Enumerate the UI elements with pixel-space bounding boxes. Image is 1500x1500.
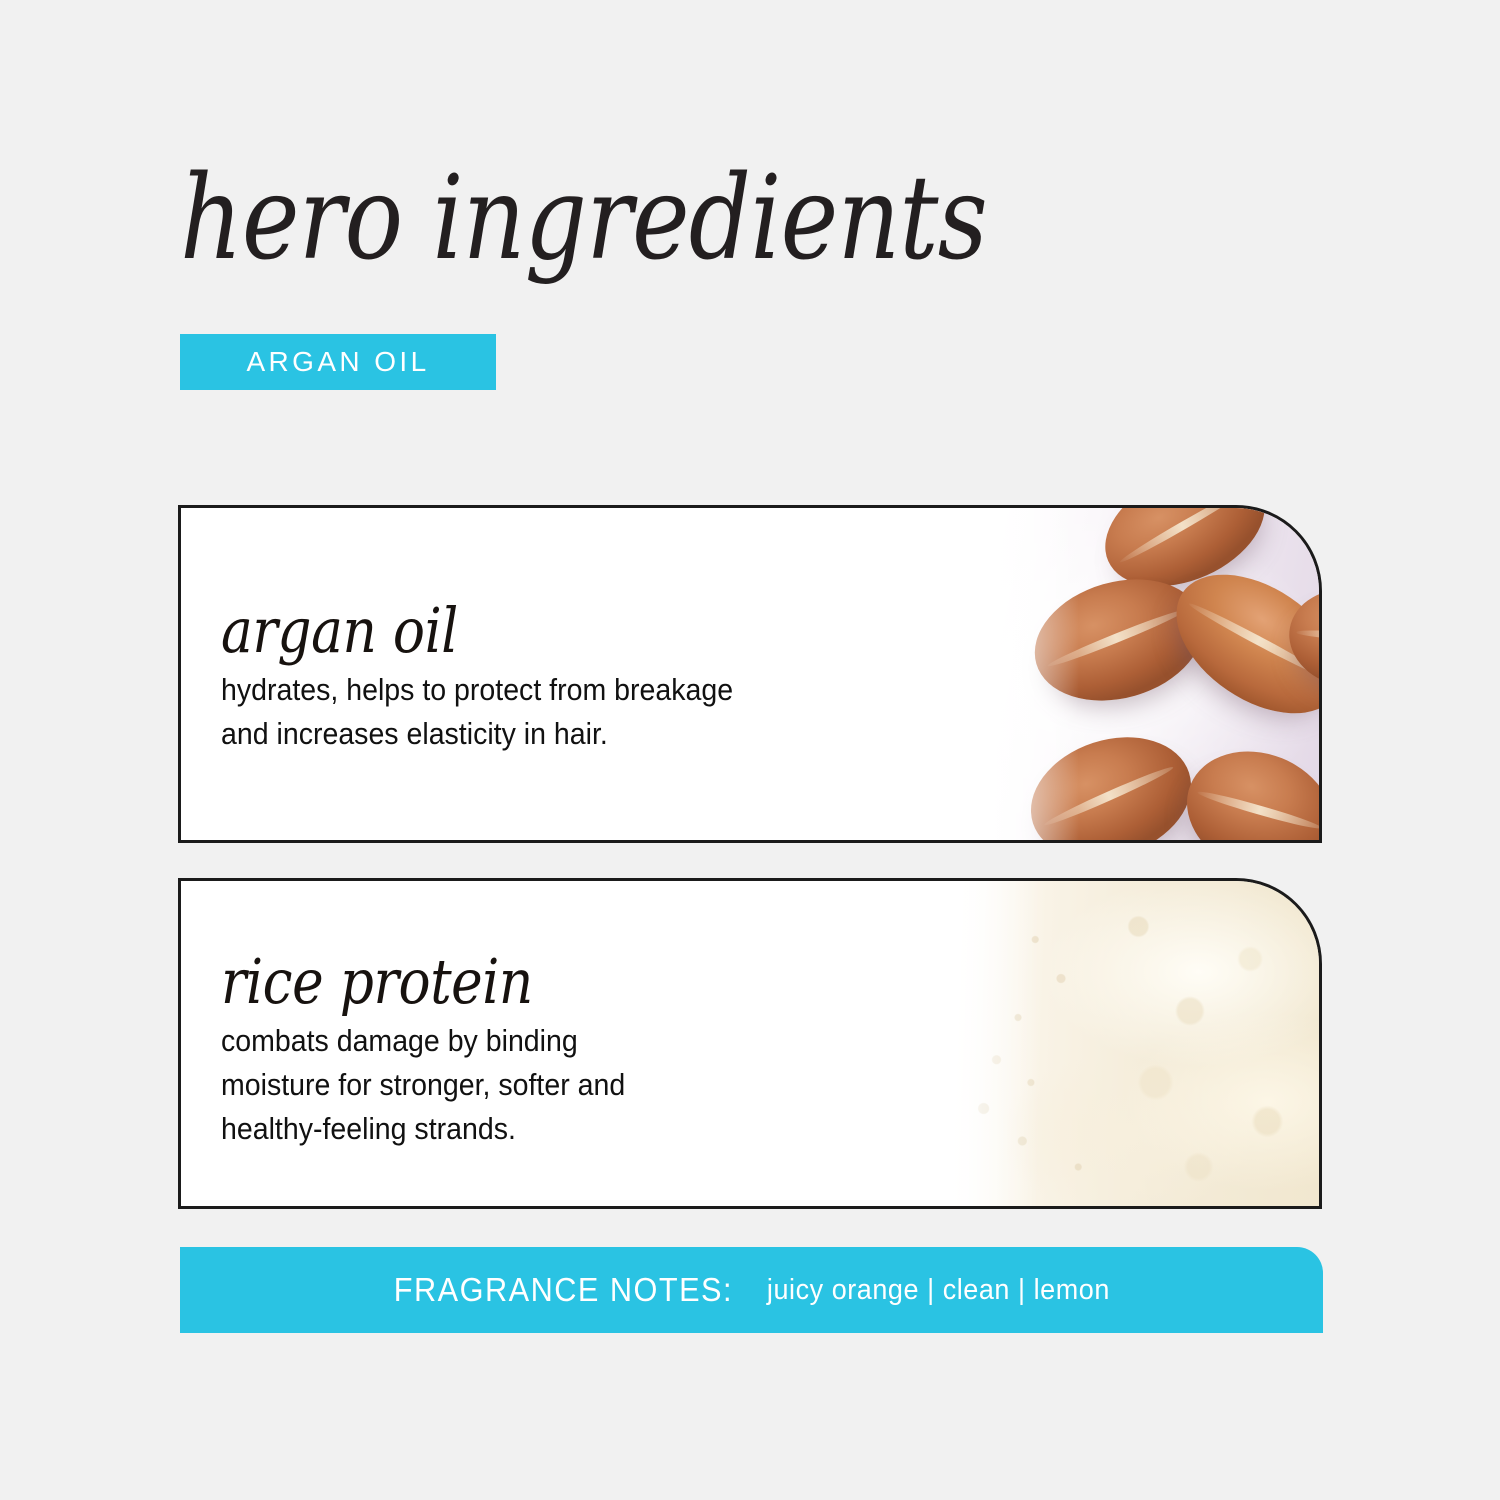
category-badge: ARGAN OIL [180, 334, 496, 390]
rice-protein-title: rice protein [221, 951, 599, 1013]
argan-nut-icon [1168, 730, 1322, 843]
ingredient-card-rice-protein: rice protein combats damage by binding m… [178, 878, 1322, 1209]
infographic-canvas: hero ingredients ARGAN OIL argan oil hyd… [0, 0, 1500, 1500]
rice-protein-text-block: rice protein combats damage by binding m… [221, 951, 660, 1151]
ingredient-card-argan-oil: argan oil hydrates, helps to protect fro… [178, 505, 1322, 843]
rice-protein-powder-image [889, 881, 1319, 1206]
fragrance-notes-label: FRAGRANCE NOTES: [393, 1271, 732, 1309]
argan-nut-icon [1015, 717, 1207, 843]
argan-oil-description: hydrates, helps to protect from breakage… [221, 668, 733, 756]
argan-nuts-image [989, 508, 1319, 840]
argan-oil-description-line: and increases elasticity in hair. [221, 712, 733, 756]
category-badge-label: ARGAN OIL [246, 346, 429, 378]
rice-protein-description-line: healthy-feeling strands. [221, 1107, 625, 1151]
rice-protein-description-line: moisture for stronger, softer and [221, 1063, 625, 1107]
argan-oil-description-line: hydrates, helps to protect from breakage [221, 668, 733, 712]
argan-oil-title: argan oil [221, 600, 700, 662]
fragrance-notes-bar: FRAGRANCE NOTES: juicy orange | clean | … [180, 1247, 1323, 1333]
argan-oil-text-block: argan oil hydrates, helps to protect fro… [221, 600, 778, 756]
fragrance-notes-value: juicy orange | clean | lemon [766, 1274, 1109, 1307]
page-title: hero ingredients [180, 158, 987, 280]
rice-protein-description: combats damage by binding moisture for s… [221, 1019, 625, 1151]
rice-protein-description-line: combats damage by binding [221, 1019, 625, 1063]
